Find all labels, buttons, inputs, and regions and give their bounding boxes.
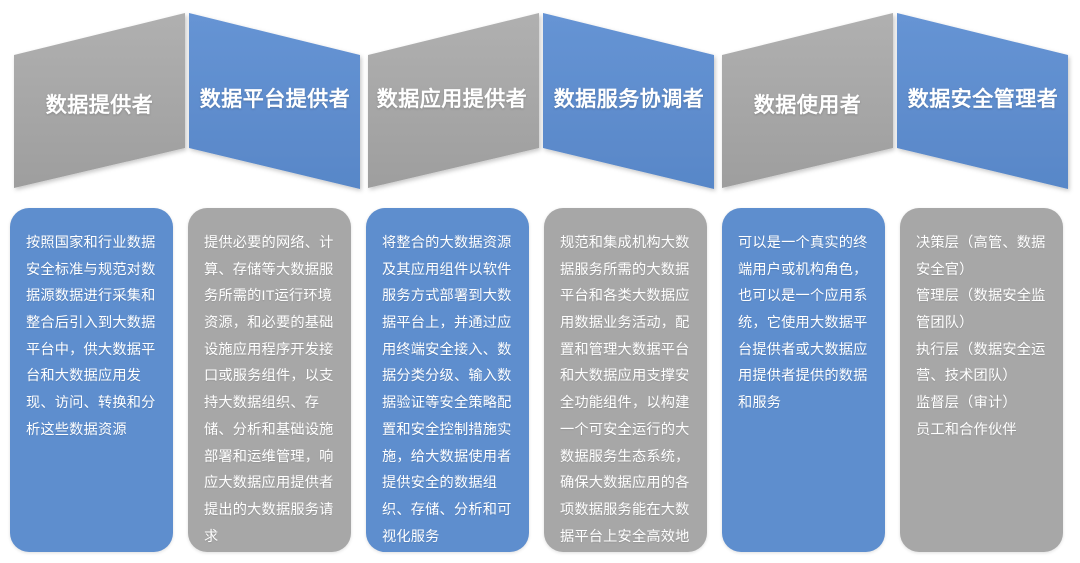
card-data-service-coordinator[interactable]: 规范和集成机构大数据服务所需的大数据平台和各类大数据应用数据业务活动，配置和管理… (544, 208, 707, 552)
card-text-data-service-coordinator: 规范和集成机构大数据服务所需的大数据平台和各类大数据应用数据业务活动，配置和管理… (560, 230, 692, 552)
banner-shape-data-provider[interactable] (14, 13, 185, 188)
banner-shape-data-service-coordinator[interactable] (543, 13, 714, 189)
card-data-platform-provider[interactable]: 提供必要的网络、计算、存储等大数据服务所需的IT运行环境资源，和必要的基础设施应… (188, 208, 351, 552)
card-text-data-consumer: 可以是一个真实的终端用户或机构角色，也可以是一个应用系统，它使用大数据平台提供者… (738, 230, 870, 417)
diagram-canvas: 数据提供者 数据平台提供者 数据应用提供者 数据服务协调者 数据使用者 数据安全… (0, 0, 1080, 563)
banner-shape-data-security-manager[interactable] (897, 13, 1068, 189)
banner-shape-data-platform-provider[interactable] (189, 13, 360, 189)
role-banner-svg (0, 0, 1080, 200)
role-banner-band: 数据提供者 数据平台提供者 数据应用提供者 数据服务协调者 数据使用者 数据安全… (0, 0, 1080, 200)
role-description-cards: 按照国家和行业数据安全标准与规范对数据源数据进行采集和整合后引入到大数据平台中，… (0, 208, 1080, 556)
banner-shape-data-application-provider[interactable] (368, 13, 539, 188)
card-data-provider[interactable]: 按照国家和行业数据安全标准与规范对数据源数据进行采集和整合后引入到大数据平台中，… (10, 208, 173, 552)
card-data-security-manager[interactable]: 决策层（高管、数据安全官） 管理层（数据安全监管团队） 执行层（数据安全运营、技… (900, 208, 1063, 552)
card-text-data-security-manager: 决策层（高管、数据安全官） 管理层（数据安全监管团队） 执行层（数据安全运营、技… (916, 230, 1048, 444)
banner-shape-data-consumer[interactable] (722, 13, 893, 188)
card-text-data-application-provider: 将整合的大数据资源及其应用组件以软件服务方式部署到大数据平台上，并通过应用终端安… (382, 230, 514, 550)
card-data-application-provider[interactable]: 将整合的大数据资源及其应用组件以软件服务方式部署到大数据平台上，并通过应用终端安… (366, 208, 529, 552)
card-text-data-platform-provider: 提供必要的网络、计算、存储等大数据服务所需的IT运行环境资源，和必要的基础设施应… (204, 230, 336, 550)
card-text-data-provider: 按照国家和行业数据安全标准与规范对数据源数据进行采集和整合后引入到大数据平台中，… (26, 230, 158, 444)
card-data-consumer[interactable]: 可以是一个真实的终端用户或机构角色，也可以是一个应用系统，它使用大数据平台提供者… (722, 208, 885, 552)
